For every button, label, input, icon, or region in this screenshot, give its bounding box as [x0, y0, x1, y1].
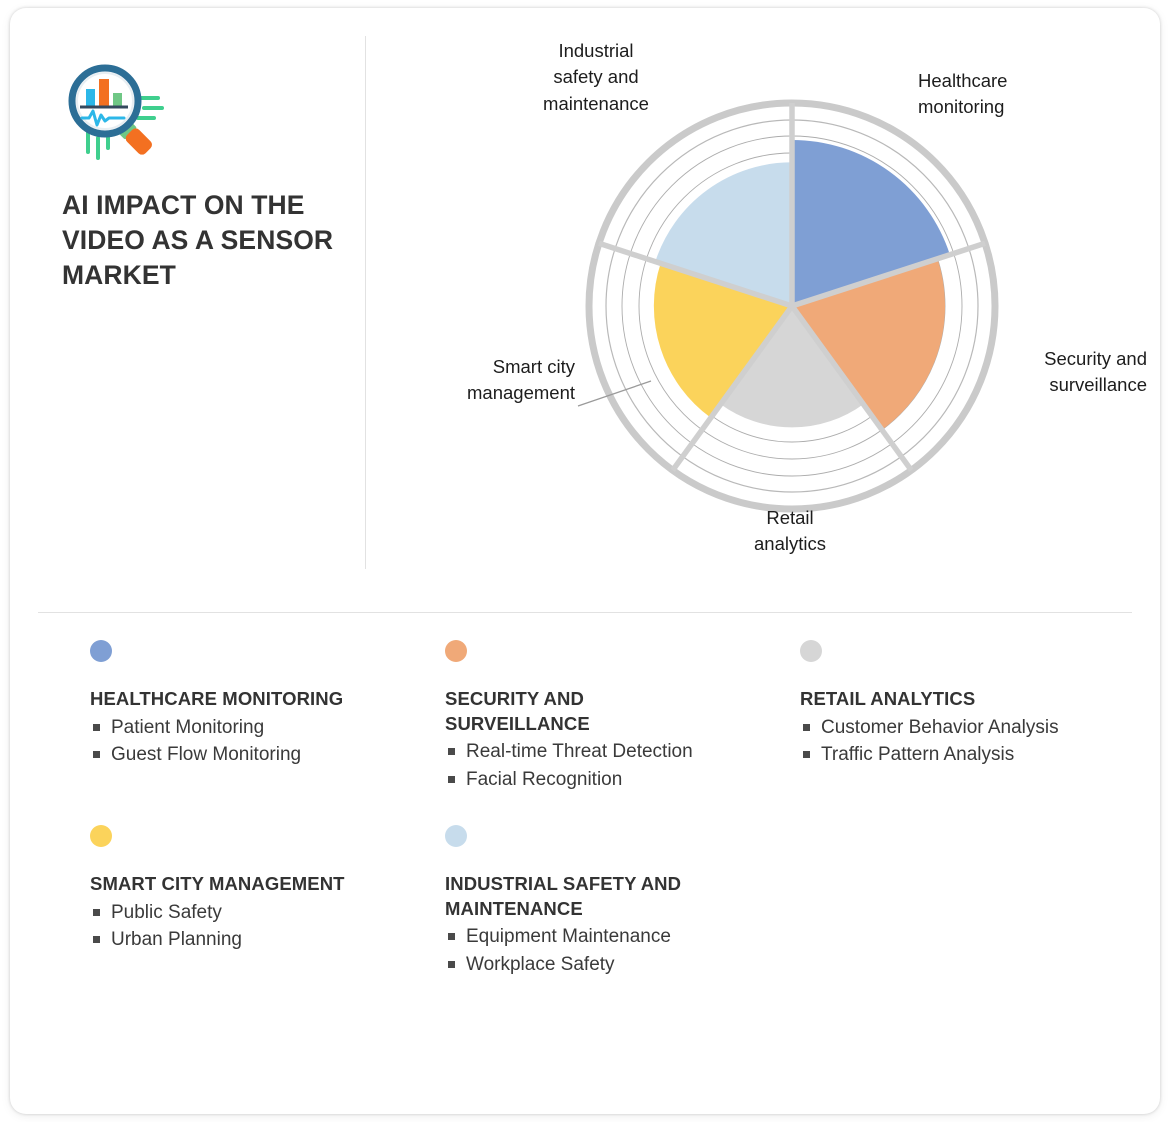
legend-item-retail-analytics: RETAIL ANALYTICS Customer Behavior Analy…	[720, 640, 1075, 793]
legend-item-title: RETAIL ANALYTICS	[800, 687, 1075, 712]
legend-item-bullets: Real-time Threat Detection Facial Recogn…	[445, 738, 720, 793]
legend-item-title: SECURITY AND SURVEILLANCE	[445, 687, 720, 736]
axis-label-line: surveillance	[1049, 374, 1147, 395]
legend-row: HEALTHCARE MONITORING Patient Monitoring…	[10, 640, 1160, 793]
axis-label-line: Security and	[1044, 348, 1147, 369]
polar-area-chart: Healthcare monitoring Security and surve…	[365, 8, 1160, 600]
legend-item-title: HEALTHCARE MONITORING	[90, 687, 365, 712]
axis-label-industrial-safety-and-maintenance: Industrial safety and maintenance	[520, 38, 672, 117]
axis-label-line: Retail	[766, 507, 813, 528]
legend-item-title: INDUSTRIAL SAFETY AND MAINTENANCE	[445, 872, 720, 921]
axis-label-smart-city-management: Smart city management	[435, 354, 575, 407]
axis-label-line: Smart city	[493, 356, 575, 377]
legend-item-title: SMART CITY MANAGEMENT	[90, 872, 365, 897]
legend-item-bullets: Equipment Maintenance Workplace Safety	[445, 923, 720, 978]
legend-item-industrial-safety-and-maintenance: INDUSTRIAL SAFETY AND MAINTENANCE Equipm…	[365, 825, 720, 978]
legend-color-dot	[90, 640, 112, 662]
legend-item-bullets: Customer Behavior Analysis Traffic Patte…	[800, 714, 1075, 769]
axis-label-line: safety and	[553, 66, 638, 87]
list-item: Real-time Threat Detection	[445, 738, 720, 766]
axis-label-line: analytics	[754, 533, 826, 554]
list-item: Equipment Maintenance	[445, 923, 720, 951]
magnifying-glass-bar-chart-icon	[62, 60, 166, 162]
infographic-card: AI IMPACT ON THE VIDEO AS A SENSOR MARKE…	[10, 8, 1160, 1114]
legend-color-dot	[90, 825, 112, 847]
list-item: Patient Monitoring	[90, 714, 365, 742]
axis-label-healthcare-monitoring: Healthcare monitoring	[918, 68, 1088, 121]
list-item: Urban Planning	[90, 926, 365, 954]
legend-row: SMART CITY MANAGEMENT Public Safety Urba…	[10, 825, 1160, 978]
axis-label-line: maintenance	[543, 93, 649, 114]
title-block: AI IMPACT ON THE VIDEO AS A SENSOR MARKE…	[62, 60, 352, 294]
legend: HEALTHCARE MONITORING Patient Monitoring…	[10, 640, 1160, 979]
axis-label-line: Healthcare	[918, 70, 1007, 91]
page-title: AI IMPACT ON THE VIDEO AS A SENSOR MARKE…	[62, 188, 352, 294]
axis-label-retail-analytics: Retail analytics	[735, 505, 845, 558]
axis-label-security-and-surveillance: Security and surveillance	[995, 346, 1147, 399]
axis-label-line: Industrial	[558, 40, 633, 61]
axis-label-line: management	[467, 382, 575, 403]
header-and-chart-section: AI IMPACT ON THE VIDEO AS A SENSOR MARKE…	[10, 8, 1160, 600]
legend-color-dot	[445, 640, 467, 662]
legend-item-smart-city-management: SMART CITY MANAGEMENT Public Safety Urba…	[10, 825, 365, 978]
list-item: Public Safety	[90, 899, 365, 927]
list-item: Workplace Safety	[445, 951, 720, 979]
legend-color-dot	[800, 640, 822, 662]
legend-item-healthcare-monitoring: HEALTHCARE MONITORING Patient Monitoring…	[10, 640, 365, 793]
legend-item-bullets: Patient Monitoring Guest Flow Monitoring	[90, 714, 365, 769]
list-item: Facial Recognition	[445, 766, 720, 794]
legend-item-security-and-surveillance: SECURITY AND SURVEILLANCE Real-time Thre…	[365, 640, 720, 793]
list-item: Traffic Pattern Analysis	[800, 741, 1075, 769]
axis-label-line: monitoring	[918, 96, 1004, 117]
horizontal-divider	[38, 612, 1132, 613]
legend-item-bullets: Public Safety Urban Planning	[90, 899, 365, 954]
list-item: Guest Flow Monitoring	[90, 741, 365, 769]
legend-color-dot	[445, 825, 467, 847]
list-item: Customer Behavior Analysis	[800, 714, 1075, 742]
